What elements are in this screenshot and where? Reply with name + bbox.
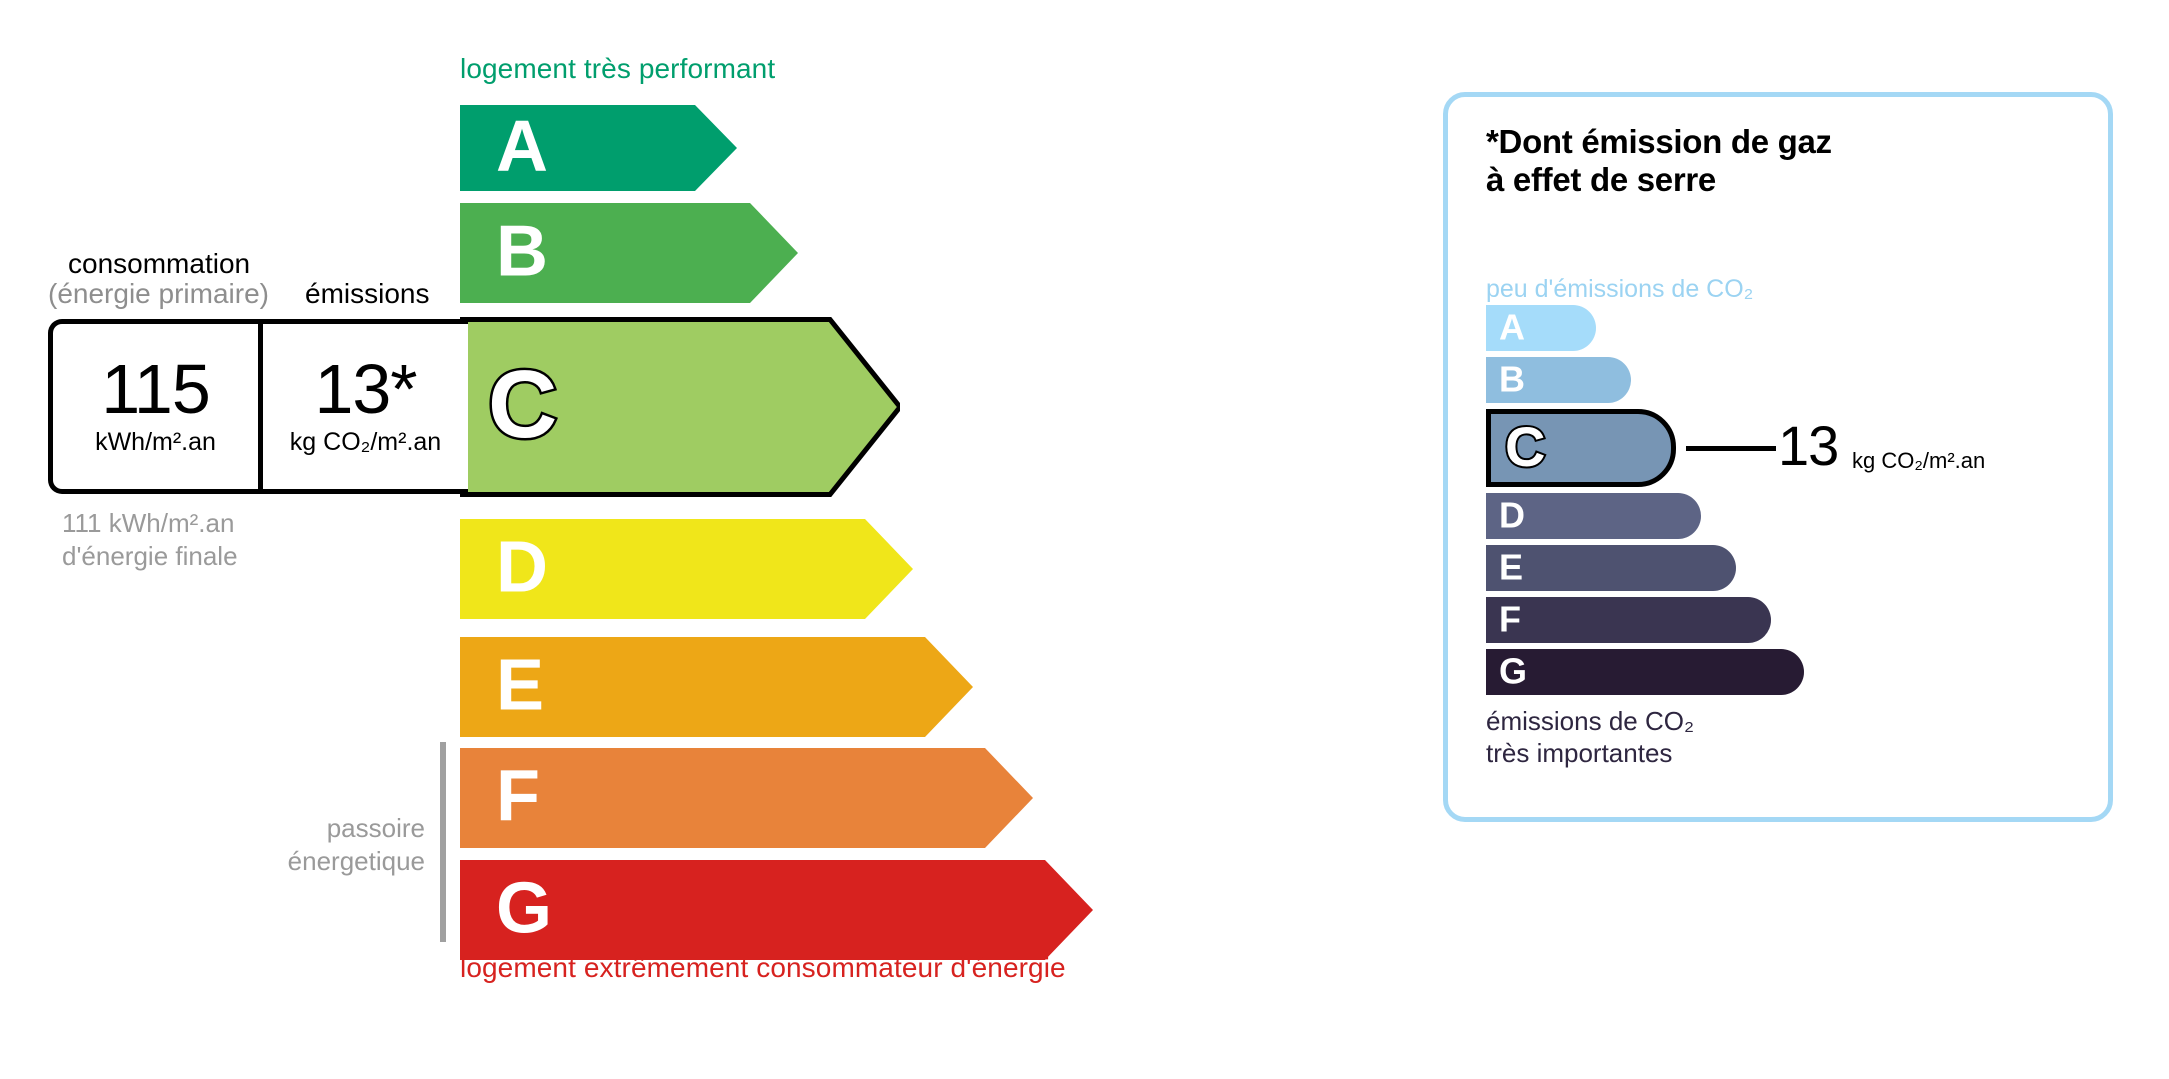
energy-band-arrow-e: E	[460, 637, 973, 737]
co2-band-bar-f: F	[1486, 597, 1771, 643]
co2-band-letter-d: D	[1499, 497, 1525, 533]
co2-band-letter-a: A	[1499, 309, 1525, 345]
co2-band-d: D	[1486, 493, 1701, 539]
emission-value: 13*	[314, 356, 416, 423]
label-energie-finale: 111 kWh/m².an d'énergie finale	[62, 507, 238, 572]
co2-band-bar-d: D	[1486, 493, 1701, 539]
energy-band-arrow-c: C	[460, 317, 900, 497]
energy-band-arrow-f: F	[460, 748, 1033, 848]
co2-band-c: C	[1486, 409, 1676, 487]
energy-band-a: A	[460, 105, 737, 191]
co2-panel-title: *Dont émission de gaz à effet de serre	[1486, 123, 1832, 200]
co2-band-letter-e: E	[1499, 549, 1523, 585]
scale-bottom-caption: logement extrêmement consommateur d'éner…	[460, 952, 1066, 984]
energy-band-shape-b	[460, 203, 798, 303]
co2-unit: kg CO₂/m².an	[1852, 450, 1985, 472]
co2-band-bar-b: B	[1486, 357, 1631, 403]
energie-finale-line2: d'énergie finale	[62, 540, 238, 573]
scale-top-caption: logement très performant	[460, 53, 775, 85]
co2-band-a: A	[1486, 305, 1596, 351]
co2-band-letter-f: F	[1499, 601, 1521, 637]
co2-band-bar-g: G	[1486, 649, 1804, 695]
energy-band-c: C	[460, 317, 900, 497]
consumption-emission-box: 115 kWh/m².an 13* kg CO₂/m².an	[48, 319, 468, 494]
passoire-label-line2: énergetique	[265, 845, 425, 878]
co2-band-letter-g: G	[1499, 653, 1527, 689]
energy-performance-scale: logement très performant ABCDEFG logemen…	[0, 0, 1400, 1079]
label-energie-primaire: (énergie primaire)	[48, 278, 269, 310]
co2-band-g: G	[1486, 649, 1804, 695]
energy-band-shape-d	[460, 519, 913, 619]
co2-band-f: F	[1486, 597, 1771, 643]
energy-band-shape-c	[460, 317, 900, 497]
energy-band-shape-e	[460, 637, 973, 737]
emission-unit: kg CO₂/m².an	[290, 428, 441, 457]
energy-band-b: B	[460, 203, 798, 303]
co2-top-caption: peu d'émissions de CO₂	[1486, 275, 1753, 304]
passoire-label-line1: passoire	[265, 812, 425, 845]
consumption-cell: 115 kWh/m².an	[53, 324, 258, 489]
co2-bottom-caption-line2: très importantes	[1486, 737, 1694, 769]
label-emissions: émissions	[305, 278, 429, 310]
co2-emissions-panel: *Dont émission de gaz à effet de serre p…	[1443, 92, 2113, 822]
energy-band-d: D	[460, 519, 913, 619]
co2-title-line1: *Dont émission de gaz	[1486, 123, 1832, 161]
consumption-value: 115	[101, 356, 210, 423]
co2-bottom-caption-line1: émissions de CO₂	[1486, 705, 1694, 737]
energy-band-f: F	[460, 748, 1033, 848]
co2-band-b: B	[1486, 357, 1631, 403]
energy-band-shape-a	[460, 105, 737, 191]
emission-cell: 13* kg CO₂/m².an	[258, 324, 468, 489]
energie-finale-line1: 111 kWh/m².an	[62, 507, 238, 540]
energy-band-shape-g	[460, 860, 1093, 960]
energy-band-arrow-d: D	[460, 519, 913, 619]
co2-band-e: E	[1486, 545, 1736, 591]
co2-band-letter-b: B	[1499, 361, 1525, 397]
co2-band-bar-c: C	[1486, 409, 1676, 487]
co2-title-line2: à effet de serre	[1486, 161, 1832, 199]
co2-value: 13	[1778, 418, 1838, 474]
co2-bottom-caption: émissions de CO₂ très importantes	[1486, 705, 1694, 769]
consumption-unit: kWh/m².an	[95, 428, 216, 457]
co2-band-bar-e: E	[1486, 545, 1736, 591]
label-consommation: consommation	[68, 248, 250, 280]
energy-band-arrow-b: B	[460, 203, 798, 303]
co2-leader-line	[1686, 446, 1776, 451]
energy-band-arrow-a: A	[460, 105, 737, 191]
energy-band-arrow-g: G	[460, 860, 1093, 960]
passoire-energetique-label: passoire énergetique	[265, 812, 425, 877]
energy-band-shape-f	[460, 748, 1033, 848]
co2-band-letter-c: C	[1505, 419, 1545, 475]
co2-band-bar-a: A	[1486, 305, 1596, 351]
energy-band-g: G	[460, 860, 1093, 960]
passoire-energetique-bracket	[440, 742, 446, 942]
energy-band-e: E	[460, 637, 973, 737]
